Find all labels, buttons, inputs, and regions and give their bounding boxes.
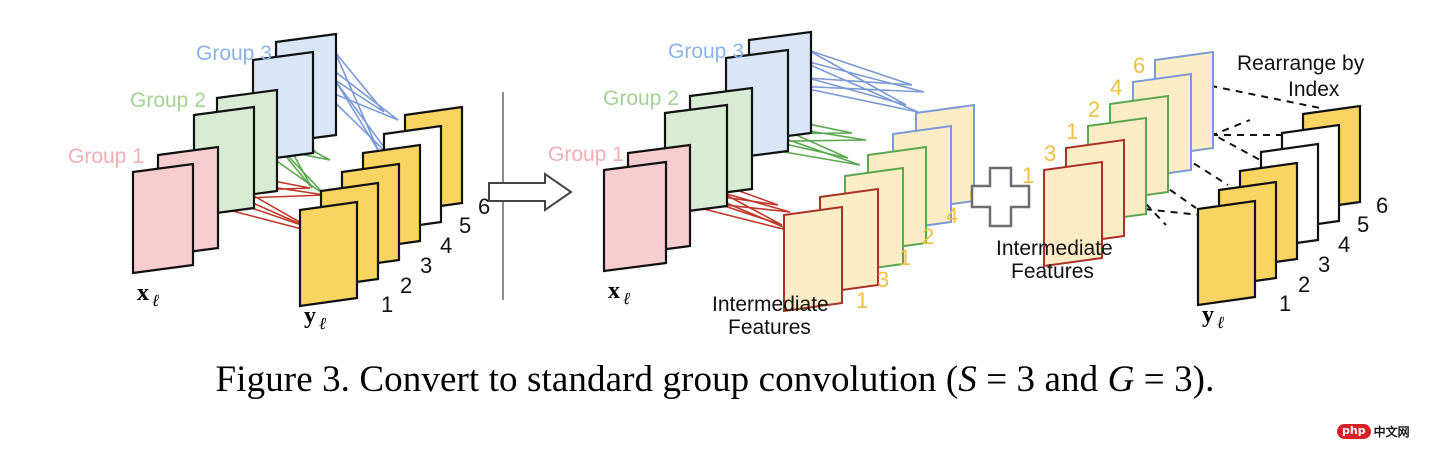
right-output-plate-1 [1198,201,1255,305]
middle-index-1a: 1 [856,288,868,313]
left-panel: Group 1 Group 2 Group 3 x ℓ y ℓ 1 2 3 4 … [68,34,490,333]
watermark: php 中文网 [1337,424,1410,439]
left-output-plate-1 [300,202,357,306]
caption-symbol-g: G [1108,359,1135,400]
middle-group2-label: Group 2 [603,87,679,110]
left-output-index-3: 3 [420,253,432,278]
plus-sign-icon [972,168,1029,226]
middle-group1-label: Group 1 [548,143,624,166]
left-input-symbol-x: x [137,280,149,306]
convert-arrow-right-icon [489,174,571,210]
middle-input-symbol-sub: ℓ [623,289,630,308]
left-group2-label: Group 2 [130,89,206,112]
right-intermediate-label-line1: Intermediate [996,237,1113,260]
left-input-plate-g1-a [133,164,193,273]
left-output-symbol-y: y [304,303,316,329]
right-index-3: 3 [1044,141,1056,166]
right-output-index-3: 3 [1318,252,1330,277]
left-group1-label: Group 1 [68,145,144,168]
right-intermediate-label-line2: Features [1011,260,1094,283]
right-index-4: 4 [1110,75,1122,100]
right-output-index-5: 5 [1357,212,1369,237]
caption-prefix: Figure 3. Convert to standard group conv… [216,359,959,400]
caption-eq1: = 3 and [977,359,1108,400]
left-output-symbol: y ℓ [304,303,326,333]
middle-index-2: 2 [922,224,934,249]
right-panel: 1 3 1 2 4 6 Intermediate Features Rearra… [996,52,1388,332]
middle-index-4: 4 [946,203,958,228]
right-index-6: 6 [1133,53,1145,78]
watermark-php-badge: php [1337,424,1371,439]
left-output-index-5: 5 [459,213,471,238]
left-output-index-2: 2 [400,273,412,298]
middle-intermediate-label-line1: Intermediate [712,293,829,316]
middle-input-plate-g1-a [604,162,666,271]
right-output-index-4: 4 [1338,232,1350,257]
figure-caption: Figure 3. Convert to standard group conv… [0,358,1430,401]
middle-input-symbol-x: x [608,278,620,304]
right-index-2: 2 [1088,97,1100,122]
left-group3-label: Group 3 [196,42,272,65]
middle-group3-label: Group 3 [668,40,744,63]
caption-eq2: = 3). [1134,359,1214,400]
left-output-index-4: 4 [440,233,452,258]
rearrange-label-line2: Index [1288,78,1340,101]
watermark-chinese-text: 中文网 [1374,425,1410,439]
rearrange-label-line1: Rearrange by [1237,52,1365,75]
left-output-symbol-sub: ℓ [319,314,326,333]
right-index-1a: 1 [1022,163,1034,188]
left-output-index-1: 1 [381,292,393,317]
middle-panel: Group 1 Group 2 Group 3 x ℓ Intermediate… [548,32,981,339]
right-index-1b: 1 [1066,119,1078,144]
right-output-index-2: 2 [1298,272,1310,297]
middle-index-3: 3 [877,267,889,292]
left-input-symbol-sub: ℓ [152,291,159,310]
middle-input-symbol: x ℓ [608,278,630,308]
right-output-index-6: 6 [1376,193,1388,218]
middle-group3-connections [794,50,924,112]
right-output-symbol-sub: ℓ [1217,313,1224,332]
right-output-index-1: 1 [1279,291,1291,316]
figure-container: Group 1 Group 2 Group 3 x ℓ y ℓ 1 2 3 4 … [0,0,1430,450]
caption-symbol-s: S [958,359,977,400]
middle-index-1b: 1 [899,245,911,270]
right-output-symbol-y: y [1202,302,1214,328]
right-output-symbol: y ℓ [1202,302,1224,332]
left-input-symbol: x ℓ [137,280,159,310]
middle-intermediate-label-line2: Features [728,316,811,339]
